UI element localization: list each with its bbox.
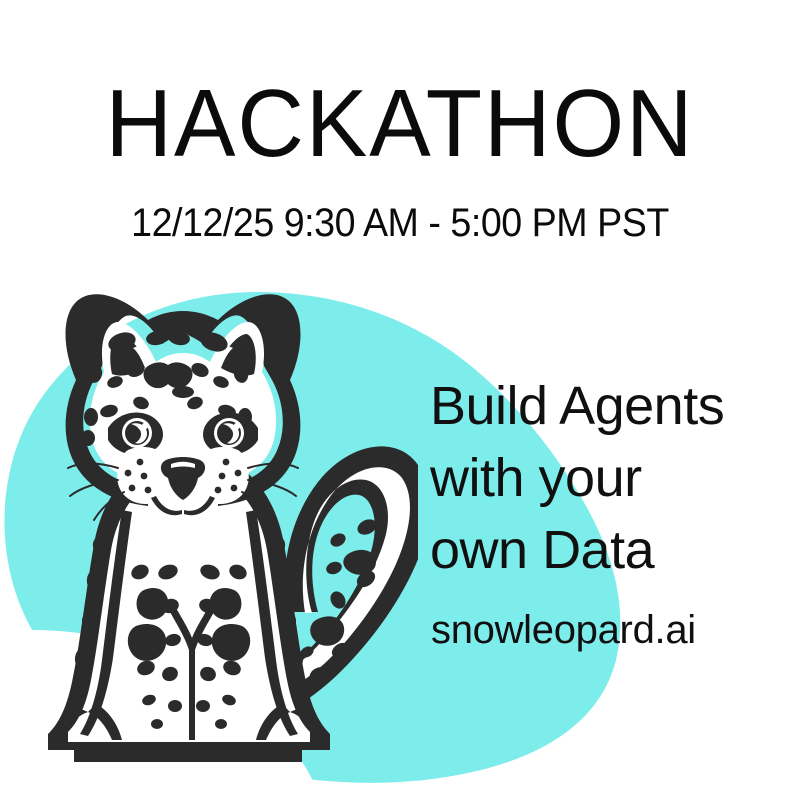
body [48,452,330,762]
eye-left-glint [142,423,148,429]
headline-line-3: own Data [430,514,790,586]
snow-leopard-illustration [18,282,418,762]
headline-line-2: with your [430,442,790,514]
eye-right-glint [234,423,240,429]
website-url[interactable]: snowleopard.ai [431,606,696,654]
poster-canvas: HACKATHON 12/12/25 9:30 AM - 5:00 PM PST… [0,0,800,800]
head [66,294,301,520]
page-title: HACKATHON [16,76,784,172]
event-datetime: 12/12/25 9:30 AM - 5:00 PM PST [24,203,776,243]
headline-line-1: Build Agents [430,370,790,442]
headline-block: Build Agents with your own Data [430,370,790,586]
forehead-center-mark [172,386,194,398]
